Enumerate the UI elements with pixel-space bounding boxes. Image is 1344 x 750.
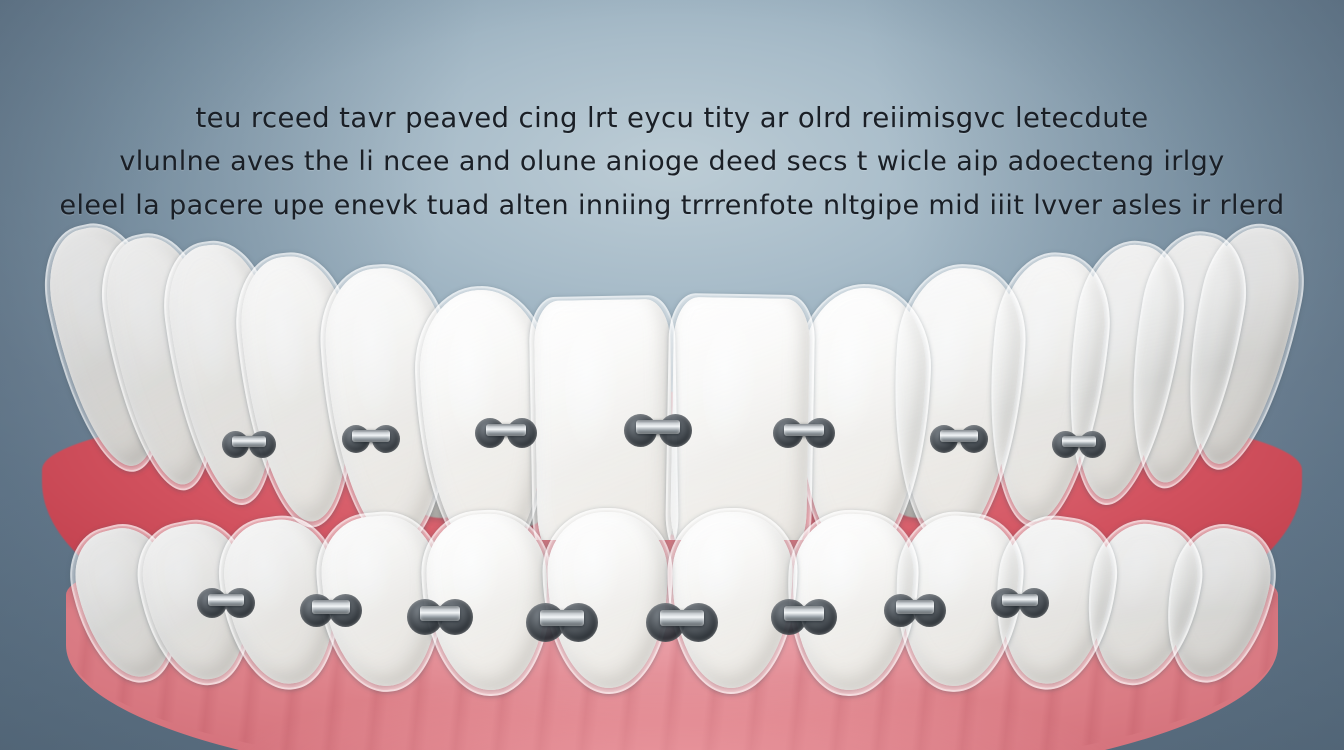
bracket-lower-6 bbox=[784, 606, 824, 621]
mouth-model bbox=[0, 0, 1344, 750]
bracket-lower-5 bbox=[660, 610, 704, 626]
bracket-lower-4 bbox=[540, 610, 584, 626]
bracket-lower-1 bbox=[208, 594, 244, 606]
bracket-lower-3 bbox=[420, 606, 460, 621]
bracket-lower-7 bbox=[896, 600, 934, 614]
lower-brackets bbox=[0, 0, 1344, 750]
bracket-lower-2 bbox=[312, 600, 350, 614]
bracket-lower-8 bbox=[1002, 594, 1038, 606]
dental-illustration-scene: teu rceed tavr peaved cing lrt eycu tity… bbox=[0, 0, 1344, 750]
